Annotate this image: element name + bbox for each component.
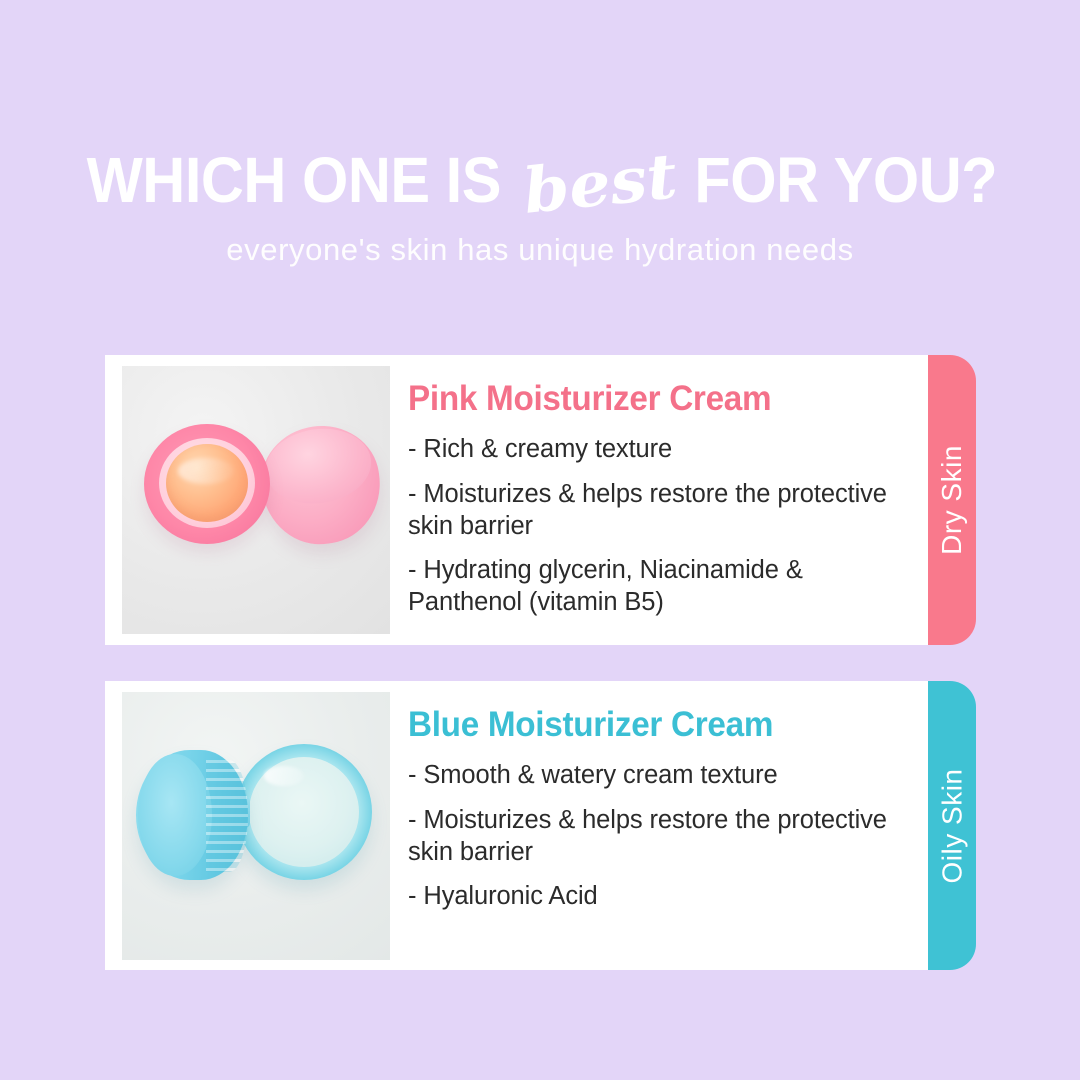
product-image-pink <box>122 366 390 634</box>
product-details-blue: Blue Moisturizer Cream - Smooth & watery… <box>390 681 928 913</box>
product-card-blue: Blue Moisturizer Cream - Smooth & watery… <box>105 681 928 970</box>
headline-prefix: WHICH ONE IS <box>87 148 501 212</box>
page-title: WHICH ONE IS best FOR YOU? <box>0 138 1080 222</box>
product-bullet: - Rich & creamy texture <box>408 434 894 466</box>
headline-script-word: best <box>520 145 679 223</box>
pink-jar-cream-icon <box>166 444 248 522</box>
product-bullet: - Smooth & watery cream texture <box>408 760 894 792</box>
product-bullet: - Hydrating glycerin, Niacinamide & Pant… <box>408 555 894 619</box>
page-subtitle: everyone's skin has unique hydration nee… <box>0 231 1080 268</box>
product-card-pink: Pink Moisturizer Cream - Rich & creamy t… <box>105 355 928 645</box>
skin-type-tab-dry: Dry Skin <box>928 355 976 645</box>
product-bullet: - Moisturizes & helps restore the protec… <box>408 479 894 543</box>
skin-type-tab-label: Dry Skin <box>936 445 968 555</box>
product-title-blue: Blue Moisturizer Cream <box>408 707 870 744</box>
product-title-pink: Pink Moisturizer Cream <box>408 381 870 418</box>
skin-type-tab-label: Oily Skin <box>936 768 968 883</box>
headline-suffix: FOR YOU? <box>695 148 998 212</box>
blue-jar-lid-ridges <box>206 760 248 872</box>
blue-jar-lid-face <box>138 754 212 876</box>
blue-jar-lid-icon <box>136 750 248 880</box>
blue-cream-highlight <box>264 766 304 786</box>
product-bullet: - Hyaluronic Acid <box>408 881 894 913</box>
pink-cream-highlight <box>178 458 234 484</box>
infographic-canvas: WHICH ONE IS best FOR YOU? everyone's sk… <box>0 0 1080 1080</box>
product-image-blue <box>122 692 390 960</box>
skin-type-tab-oily: Oily Skin <box>928 681 976 970</box>
product-bullet: - Moisturizes & helps restore the protec… <box>408 805 894 869</box>
product-details-pink: Pink Moisturizer Cream - Rich & creamy t… <box>390 355 928 619</box>
